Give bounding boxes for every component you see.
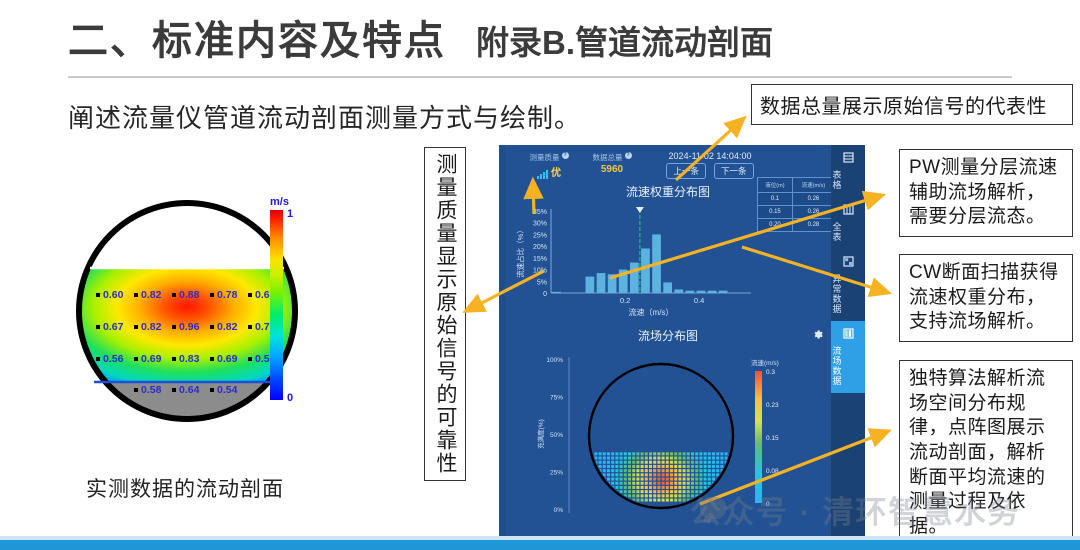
pipe-value-label: 0.54 [210, 384, 237, 396]
dashboard-content: 测量质量? 优 数据总量? 5960 2024-11-02 14:04:00 [505, 145, 831, 536]
table-row[interactable]: 0.150.26 [758, 206, 835, 219]
sidebar-item-label: 流场数据 [831, 346, 840, 386]
callout-pw-measurement: PW测量分层流速辅助流场解析，需要分层流态。 [899, 149, 1073, 237]
pipe-value-label: 0.58 [134, 384, 161, 396]
pipe-value-label: 0.78 [210, 289, 237, 301]
svg-text:50%: 50% [550, 432, 563, 439]
sidebar-item-label: 表格 [831, 170, 840, 190]
timestamp-navigator: 2024-11-02 14:04:00 上一条 下一条 [645, 151, 775, 179]
colorbar-unit: m/s [270, 196, 314, 208]
sidebar-item-1[interactable]: 表格 [831, 145, 865, 197]
table-cell: 0.15 [758, 206, 793, 219]
svg-text:25%: 25% [533, 232, 547, 239]
colorbar-min-tick: 0 [287, 392, 293, 404]
left-colorbar: m/s 1 0 [268, 196, 314, 432]
watermark-text: 公众号 · 清环智慧水务 [690, 487, 1021, 532]
sidebar-item-label: 异常数据 [831, 274, 840, 314]
pipe-value-label: 0.88 [172, 289, 199, 301]
svg-text:25%: 25% [550, 470, 563, 477]
table-header-row: 液位(m)流速(m/s) [758, 178, 835, 193]
subtitle-text: 阐述流量仪管道流动剖面测量方式与绘制。 [68, 98, 581, 135]
svg-text:10%: 10% [533, 268, 547, 275]
svg-text:0.15: 0.15 [766, 435, 779, 442]
alert-grid-icon [843, 254, 854, 265]
svg-text:0.08: 0.08 [766, 468, 779, 475]
colorbar-max-tick: 1 [287, 208, 293, 220]
kpi-measurement-quality: 测量质量? 优 [521, 152, 577, 179]
svg-text:0.23: 0.23 [766, 402, 779, 409]
sidebar-item-label: 全表 [831, 222, 840, 242]
callout-measurement-quality-text: 测量质量显示原始信号的可靠性 [434, 153, 456, 475]
page-title: 二、标准内容及特点 附录B.管道流动剖面 [68, 8, 773, 66]
dashboard-panel: 测量质量? 优 数据总量? 5960 2024-11-02 14:04:00 [499, 145, 865, 536]
grid-icon [843, 202, 854, 213]
table-cell: 0.26 [792, 206, 834, 219]
kpi-quality-label: 测量质量? [521, 152, 577, 163]
slide-root: 二、标准内容及特点 附录B.管道流动剖面 阐述流量仪管道流动剖面测量方式与绘制。 [0, 0, 1080, 550]
next-record-button[interactable]: 下一条 [714, 163, 754, 179]
table-cell: 0.20 [758, 219, 793, 232]
svg-text:35%: 35% [533, 209, 547, 216]
dashboard-sidebar: 表格全表异常数据流场数据 [831, 145, 865, 536]
help-icon[interactable]: ? [562, 152, 569, 159]
pipe-value-label: 0.82 [134, 289, 161, 301]
table-icon [843, 150, 854, 161]
pipe-value-label: 0.69 [210, 353, 237, 365]
help-icon[interactable]: ? [625, 152, 632, 159]
pipe-value-label: 0.83 [172, 353, 199, 365]
kpi-data-total: 数据总量? 5960 [583, 152, 641, 175]
pipe-value-label: 0.67 [96, 321, 123, 333]
level-velocity-table: 液位(m)流速(m/s) 0.10.260.150.260.200.28 [757, 177, 835, 232]
pipe-value-label: 0.82 [134, 321, 161, 333]
sidebar-item-2[interactable]: 全表 [831, 197, 865, 249]
pipe-figure-caption: 实测数据的流动剖面 [86, 473, 284, 503]
prev-record-button[interactable]: 上一条 [666, 163, 706, 179]
svg-text:5%: 5% [537, 279, 547, 286]
svg-text:15%: 15% [533, 256, 547, 263]
velocity-weight-histogram: 05%10%15%20%25%30%35%0.20.4流速占比（%）流速（m/s… [513, 197, 753, 317]
histogram-xlabel: 流速（m/s） [629, 307, 674, 317]
title-main: 二、标准内容及特点 [68, 8, 446, 66]
svg-text:100%: 100% [546, 357, 563, 364]
svg-text:20%: 20% [533, 244, 547, 251]
table-column-header: 流速(m/s) [792, 178, 834, 193]
table-column-header: 液位(m) [758, 178, 793, 193]
pipe-value-label: 0.82 [210, 321, 237, 333]
pipe-value-label: 0.56 [96, 353, 123, 365]
svg-text:0.3: 0.3 [766, 369, 775, 376]
callout-measurement-quality: 测量质量显示原始信号的可靠性 [424, 147, 466, 481]
table-row[interactable]: 0.200.28 [758, 219, 835, 232]
svg-text:0.4: 0.4 [694, 296, 704, 305]
table-cell: 0.1 [758, 193, 793, 206]
callout-data-total: 数据总量展示原始信号的代表性 [751, 84, 1073, 125]
table-cell: 0.28 [792, 219, 834, 232]
table-cell: 0.26 [792, 193, 834, 206]
sidebar-item-3[interactable]: 异常数据 [831, 249, 865, 321]
pipe-value-label: 0.64 [172, 384, 199, 396]
svg-text:0.2: 0.2 [620, 296, 630, 305]
bottom-accent-bar [0, 540, 1080, 550]
title-divider [68, 76, 1012, 78]
record-timestamp: 2024-11-02 14:04:00 [645, 151, 775, 161]
table-row[interactable]: 0.10.26 [758, 193, 835, 206]
svg-text:0: 0 [543, 291, 547, 298]
signal-bars-icon [537, 171, 548, 179]
kpi-quality-value: 优 [551, 164, 561, 179]
pipe-value-label: 0.60 [96, 289, 123, 301]
flowfield-colorbar-label: 流速(m/s) [751, 358, 779, 367]
svg-text:75%: 75% [550, 395, 563, 402]
table-body: 0.10.260.150.260.200.28 [758, 193, 835, 232]
flowfield-icon [843, 326, 854, 337]
colorbar-gradient [270, 210, 283, 400]
title-sub: 附录B.管道流动剖面 [476, 16, 773, 64]
histogram-ylabel: 流速占比（%） [515, 226, 525, 278]
sidebar-item-4[interactable]: 流场数据 [831, 321, 865, 393]
pipe-value-label: 0.96 [172, 321, 199, 333]
svg-text:0%: 0% [554, 507, 564, 514]
kpi-total-label: 数据总量? [583, 152, 641, 163]
flowfield-ylabel: 充满度(%) [536, 419, 545, 449]
kpi-total-value: 5960 [583, 164, 641, 175]
callout-cw-scan: CW断面扫描获得流速权重分布，支持流场解析。 [899, 254, 1073, 342]
svg-text:30%: 30% [533, 221, 547, 228]
pipe-value-label: 0.69 [134, 353, 161, 365]
gear-icon[interactable] [812, 327, 823, 338]
